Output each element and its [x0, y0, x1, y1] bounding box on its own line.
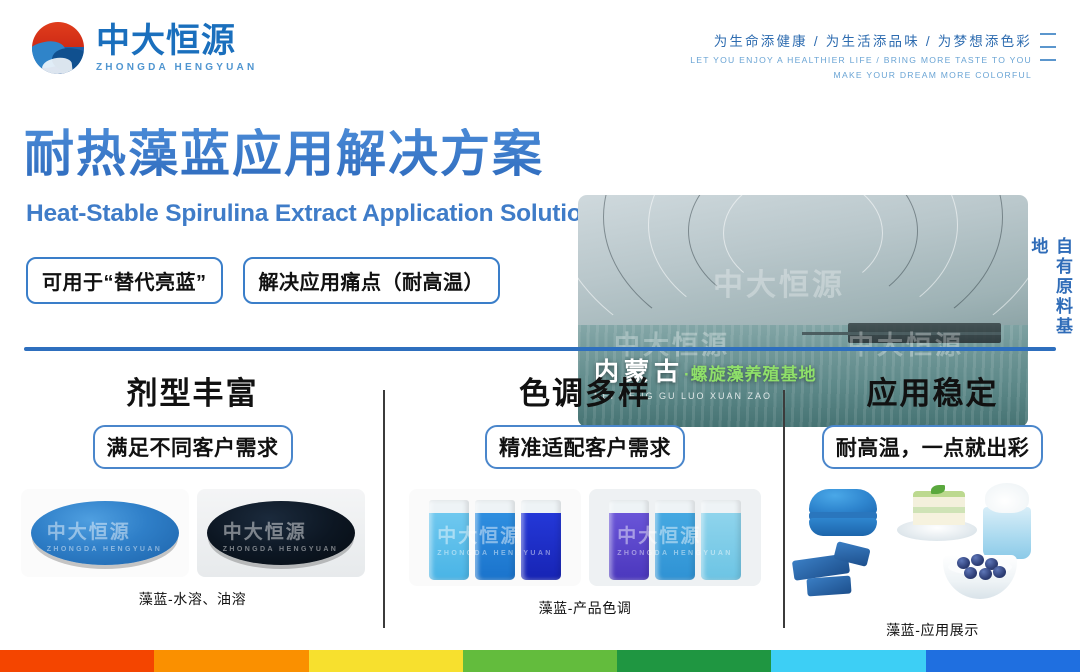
- feature-column-dosage: 剂型丰富 满足不同客户需求 中大恒源ZHONGDA HENGYUAN 中大恒源Z…: [0, 360, 385, 645]
- logo-name-cn: 中大恒源: [96, 24, 257, 58]
- rainbow-band-7: [926, 650, 1080, 672]
- column-2-photos: 中大恒源ZHONGDA HENGYUAN 中大恒源ZHONGDA HENGYUA…: [385, 489, 785, 586]
- rainbow-footer-bar: [0, 650, 1080, 672]
- feature-columns: 剂型丰富 满足不同客户需求 中大恒源ZHONGDA HENGYUAN 中大恒源Z…: [0, 360, 1080, 645]
- page-subtitle: Heat-Stable Spirulina Extract Applicatio…: [26, 200, 596, 228]
- hero-section: 耐热藻蓝应用解决方案 Heat-Stable Spirulina Extract…: [0, 95, 1080, 340]
- rainbow-band-3: [309, 650, 463, 672]
- column-1-photos: 中大恒源ZHONGDA HENGYUAN 中大恒源ZHONGDA HENGYUA…: [0, 489, 385, 577]
- column-caption-1: 藻蓝-水溶、油溶: [0, 589, 385, 609]
- photo-blue-candy-3: [806, 575, 851, 596]
- column-caption-2: 藻蓝-产品色调: [385, 598, 785, 618]
- column-3-photos: [785, 483, 1080, 608]
- logo-text: 中大恒源 ZHONGDA HENGYUAN: [96, 24, 257, 73]
- photo-cake-slice: [913, 489, 965, 525]
- column-title-2: 色调多样: [385, 368, 785, 413]
- photo-shade-series-a: 中大恒源ZHONGDA HENGYUAN: [409, 489, 581, 586]
- brand-logo[interactable]: 中大恒源 ZHONGDA HENGYUAN: [32, 22, 257, 74]
- column-title-3: 应用稳定: [785, 368, 1080, 413]
- brand-tagline: 为生命添健康 / 为生活添品味 / 为梦想添色彩 LET YOU ENJOY A…: [690, 30, 1032, 80]
- photo-watermark-en: ZHONGDA HENGYUAN: [437, 550, 553, 557]
- tagline-chinese: 为生命添健康 / 为生活添品味 / 为梦想添色彩: [690, 30, 1032, 50]
- rainbow-band-6: [771, 650, 925, 672]
- photo-watermark: 中大恒源: [617, 526, 701, 547]
- rainbow-band-1: [0, 650, 154, 672]
- rainbow-band-5: [617, 650, 771, 672]
- poster-root: 中大恒源 ZHONGDA HENGYUAN 为生命添健康 / 为生活添品味 / …: [0, 0, 1080, 672]
- photo-watermark: 中大恒源: [47, 522, 131, 543]
- photo-oil-soluble-liquid: 中大恒源ZHONGDA HENGYUAN: [197, 489, 365, 577]
- column-pill-2[interactable]: 精准适配客户需求: [485, 425, 685, 469]
- photo-watermark: 中大恒源: [223, 522, 307, 543]
- feature-tag-group: 可用于“替代亮蓝” 解决应用痛点（耐高温）: [26, 257, 500, 304]
- logo-mark-icon: [32, 22, 84, 74]
- feature-tag-1[interactable]: 可用于“替代亮蓝”: [26, 257, 223, 304]
- page-title: 耐热藻蓝应用解决方案: [24, 128, 544, 181]
- tagline-english-line2: MAKE YOUR DREAM MORE COLORFUL: [690, 70, 1032, 80]
- feature-column-applications: 应用稳定 耐高温，一点就出彩: [785, 360, 1080, 645]
- feature-column-shades: 色调多样 精准适配客户需求 中大恒源ZHONGDA HENGYUAN 中大恒源Z…: [385, 360, 785, 645]
- vertical-badge-label: 自有原料基地: [1044, 237, 1074, 340]
- hero-watermark-1: 中大恒源: [713, 260, 845, 304]
- photo-watermark-en: ZHONGDA HENGYUAN: [47, 546, 163, 553]
- decorative-lines-icon: [1040, 33, 1056, 61]
- column-title-1: 剂型丰富: [0, 368, 385, 413]
- tagline-english-line1: LET YOU ENJOY A HEALTHIER LIFE / BRING M…: [690, 55, 1032, 65]
- photo-blue-macaron: [809, 489, 877, 535]
- column-pill-1[interactable]: 满足不同客户需求: [93, 425, 293, 469]
- photo-water-soluble-powder: 中大恒源ZHONGDA HENGYUAN: [21, 489, 189, 577]
- hero-watermark-3: 中大恒源: [848, 325, 964, 362]
- photo-watermark-en: ZHONGDA HENGYUAN: [223, 546, 339, 553]
- photo-shade-series-b: 中大恒源ZHONGDA HENGYUAN: [589, 489, 761, 586]
- logo-name-en: ZHONGDA HENGYUAN: [96, 63, 257, 73]
- column-caption-3: 藻蓝-应用展示: [785, 620, 1080, 640]
- column-pill-3[interactable]: 耐高温，一点就出彩: [822, 425, 1044, 469]
- photo-watermark: 中大恒源: [437, 526, 521, 547]
- photo-watermark-en: ZHONGDA HENGYUAN: [617, 550, 733, 557]
- page-header: 中大恒源 ZHONGDA HENGYUAN 为生命添健康 / 为生活添品味 / …: [0, 0, 1080, 95]
- photo-blueberry-yogurt: [943, 555, 1017, 599]
- feature-tag-2[interactable]: 解决应用痛点（耐高温）: [243, 257, 501, 304]
- rainbow-band-2: [154, 650, 308, 672]
- rainbow-band-4: [463, 650, 617, 672]
- section-divider: [24, 347, 1056, 351]
- photo-blue-drink: [983, 485, 1031, 559]
